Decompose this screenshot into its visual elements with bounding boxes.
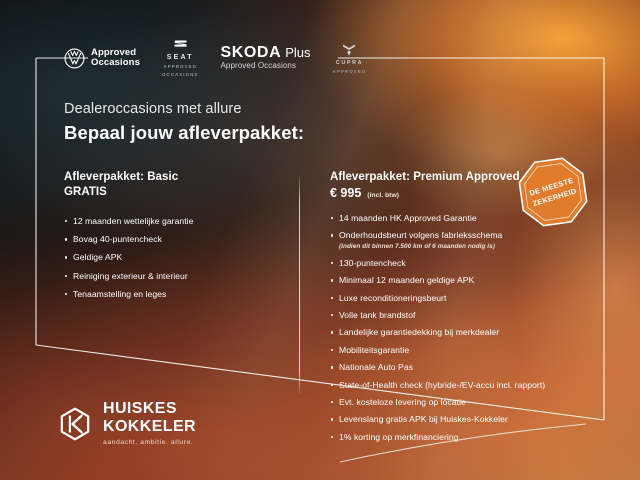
vw-logo-text: Approved Occasions: [91, 48, 140, 69]
skoda-plus-label: Plus: [285, 46, 310, 60]
headline-eyebrow: Dealeroccasions met allure: [64, 100, 304, 119]
dealer-name-line-1: HUISKES: [103, 400, 196, 418]
huiskes-kokkeler-monogram-icon: [58, 407, 92, 441]
list-item: Nationale Auto Pas: [330, 362, 560, 373]
list-item: State-of-Health check (hybride-/EV-accu …: [330, 380, 560, 391]
list-item: Mobiliteitsgarantie: [330, 345, 560, 356]
list-item: 1% korting op merkfinanciering: [330, 432, 560, 443]
skoda-sub-label: Approved Occasions: [220, 61, 310, 71]
seat-sub-approved: APPROVED: [163, 64, 196, 69]
brand-logo-volkswagen: Approved Occasions: [64, 48, 140, 69]
list-item: Levenslang gratis APK bij Huiskes-Kokkel…: [330, 414, 560, 425]
column-divider: [299, 176, 300, 394]
list-item: Landelijke garantiedekking bij merkdeale…: [330, 327, 560, 338]
list-item: Bovag 40-puntencheck: [64, 234, 279, 245]
list-item: 130-puntencheck: [330, 258, 560, 269]
list-item: Tenaamstelling en leges: [64, 289, 279, 300]
list-item-note: (indien dit binnen 7.500 km of 6 maanden…: [339, 242, 560, 251]
list-item: Luxe reconditioneringsbeurt: [330, 293, 560, 304]
cupra-sub-label: APPROVED: [333, 69, 367, 74]
headline-block: Dealeroccasions met allure Bepaal jouw a…: [64, 100, 304, 144]
dealer-name-line-2: KOKKELER: [103, 418, 196, 436]
cupra-wordmark: CUPRA: [336, 60, 363, 67]
brand-logo-strip: Approved Occasions SEAT APPROVED OCCASIO…: [64, 38, 366, 78]
brand-logo-cupra: CUPRA APPROVED: [333, 42, 367, 74]
list-item: Evt. kosteloze levering op locatie: [330, 397, 560, 408]
promo-banner: Approved Occasions SEAT APPROVED OCCASIO…: [0, 0, 640, 480]
dealer-tagline: aandacht. ambitie. allure.: [103, 437, 196, 448]
premium-package-feature-list: 14 maanden HK Approved GarantieOnderhoud…: [330, 213, 560, 443]
brand-logo-skoda: SKODA Plus Approved Occasions: [220, 45, 310, 71]
basic-package-price: GRATIS: [64, 185, 279, 200]
list-item: Minimaal 12 maanden geldige APK: [330, 275, 560, 286]
seat-wordmark: SEAT: [167, 54, 194, 62]
premium-package-price: € 995: [330, 185, 361, 201]
premium-package-price-note: (incl. btw): [367, 191, 399, 201]
seat-sub-occasions: OCCASIONS: [162, 72, 199, 77]
basic-package-title: Afleverpakket: Basic: [64, 170, 279, 185]
basic-package-feature-list: 12 maanden wettelijke garantieBovag 40-p…: [64, 216, 279, 300]
list-item: Reiniging exterieur & interieur: [64, 271, 279, 282]
list-item: Onderhoudsbeurt volgens fabrieksschema(i…: [330, 230, 560, 251]
seat-logo-icon: [173, 39, 188, 52]
brand-logo-seat: SEAT APPROVED OCCASIONS: [162, 39, 199, 77]
list-item: Volle tank brandstof: [330, 310, 560, 321]
skoda-wordmark: SKODA: [220, 45, 281, 61]
list-item: Geldige APK: [64, 252, 279, 263]
status-badge: DE MEESTE ZEKERHEID: [515, 154, 592, 231]
list-item: 12 maanden wettelijke garantie: [64, 216, 279, 227]
page-title: Bepaal jouw afleverpakket:: [64, 121, 304, 144]
dealer-wordmark: HUISKES KOKKELER aandacht. ambitie. allu…: [103, 400, 196, 448]
cupra-logo-icon: [341, 42, 357, 58]
basic-package-column: Afleverpakket: Basic GRATIS 12 maanden w…: [64, 170, 279, 307]
dealer-logo: HUISKES KOKKELER aandacht. ambitie. allu…: [58, 400, 196, 448]
vw-logo-icon: [64, 48, 85, 69]
